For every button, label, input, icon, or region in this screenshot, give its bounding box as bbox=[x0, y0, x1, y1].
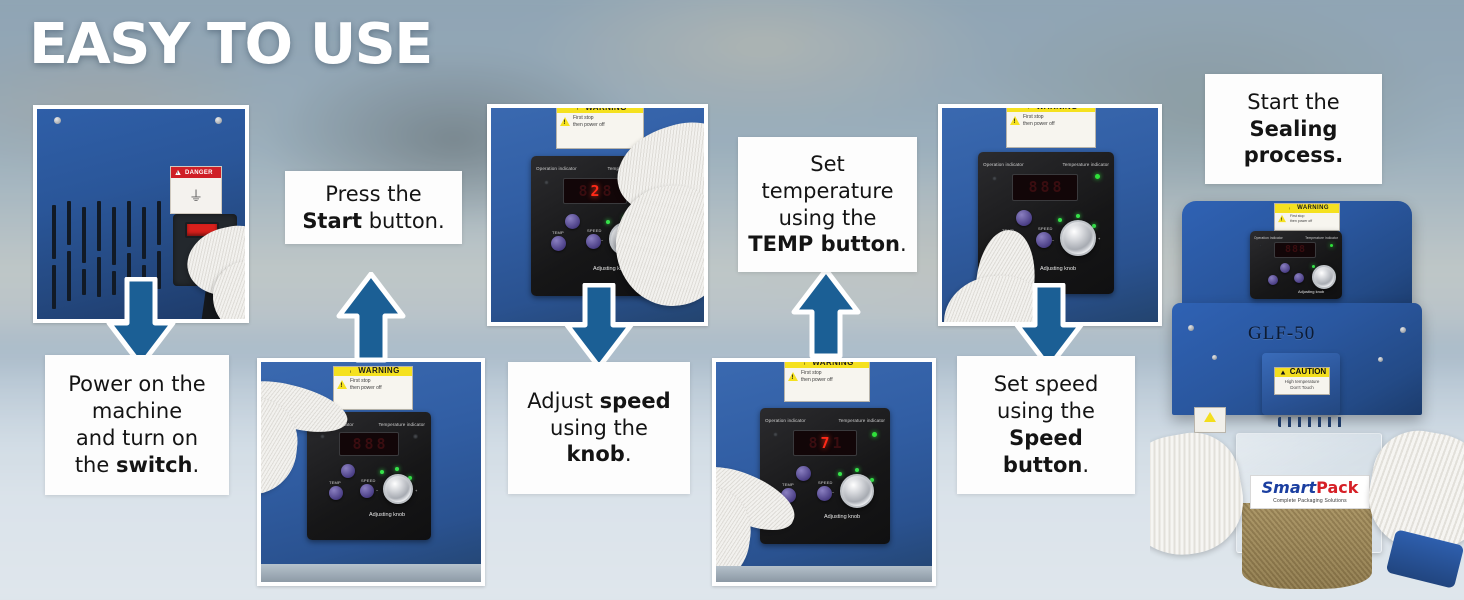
danger-label: DANGER ⏚ bbox=[170, 166, 222, 214]
warning-triangle-icon bbox=[1288, 206, 1293, 210]
temperature-indicator-label: Temperature indicator bbox=[1305, 236, 1338, 240]
screw-icon bbox=[1188, 325, 1194, 331]
adjusting-knob[interactable] bbox=[840, 474, 874, 508]
operation-indicator-label: Operation indicator bbox=[1254, 236, 1283, 240]
temperature-indicator-led bbox=[1330, 244, 1333, 247]
adjusting-knob[interactable] bbox=[383, 474, 413, 504]
step-4-caption-text: Settemperatureusing theTEMP button. bbox=[748, 151, 906, 259]
step-5-caption-text: Set speedusing theSpeedbutton. bbox=[994, 371, 1099, 479]
arrow-up-step-2 bbox=[335, 272, 407, 364]
step-4-photo: WARNING First stop then power off Operat… bbox=[712, 358, 936, 586]
operation-indicator-led bbox=[1259, 244, 1262, 247]
operation-indicator-label: Operation indicator bbox=[536, 166, 577, 171]
digit-display: 8 8 8 bbox=[1012, 174, 1078, 201]
warning-label: WARNING First stop then power off bbox=[1006, 108, 1096, 148]
temperature-indicator-label: Temperature indicator bbox=[378, 422, 425, 427]
digit-display: 8 7 1 bbox=[793, 430, 857, 456]
warning-triangle-icon bbox=[802, 362, 808, 366]
step-2-photo: WARNING First stop then power off Operat… bbox=[257, 358, 485, 586]
warning-triangle-icon bbox=[175, 170, 181, 175]
danger-label-body: ⏚ bbox=[171, 178, 221, 213]
warning-triangle-icon bbox=[788, 372, 798, 381]
step-1-caption-text: Power on themachineand turn onthe switch… bbox=[68, 371, 205, 479]
arrow-up-step-4 bbox=[790, 268, 862, 360]
screw-icon bbox=[215, 117, 222, 124]
knob-plus-label: + bbox=[1098, 236, 1101, 241]
knob-led bbox=[606, 220, 610, 224]
warning-label-body: First stop then power off bbox=[1007, 112, 1095, 129]
operation-indicator-label: Operation indicator bbox=[765, 418, 806, 423]
warning-triangle-icon bbox=[1010, 116, 1020, 125]
knob-led bbox=[1058, 218, 1062, 222]
screw-icon bbox=[1212, 355, 1217, 360]
speed-button[interactable] bbox=[360, 484, 374, 498]
bag-tagline: Complete Packaging Solutions bbox=[1273, 498, 1347, 504]
danger-label-heading: DANGER bbox=[171, 167, 221, 178]
speed-button[interactable] bbox=[1294, 273, 1304, 283]
warning-triangle-icon bbox=[337, 380, 347, 389]
warning-label-body: First stop then power off bbox=[1275, 213, 1339, 224]
table-surface bbox=[716, 566, 932, 582]
step-2-caption: Press theStart button. bbox=[285, 171, 462, 244]
speed-button-label: SPEED bbox=[818, 480, 833, 485]
operation-indicator-led bbox=[992, 176, 997, 181]
knob-minus-label: − bbox=[832, 490, 835, 495]
adjusting-knob-label: Adjusting knob bbox=[824, 514, 860, 520]
adjusting-knob-label: Adjusting knob bbox=[369, 512, 405, 518]
adjusting-knob-label: Adjusting knob bbox=[1298, 289, 1324, 294]
step-6-photo: WARNING First stop then power off Operat… bbox=[1150, 185, 1464, 600]
knob-led bbox=[380, 470, 384, 474]
screw-icon bbox=[1400, 327, 1406, 333]
step-3-caption: Adjust speedusing theknob. bbox=[508, 362, 690, 494]
warning-triangle-icon bbox=[348, 369, 354, 374]
knob-plus-label: + bbox=[415, 488, 418, 493]
bag-brand-text: SmartPack bbox=[1262, 480, 1359, 496]
warning-label: WARNING First stop then power off bbox=[556, 108, 644, 149]
warning-label: WARNING First stop then power off bbox=[1274, 203, 1340, 231]
temperature-indicator-led bbox=[872, 432, 877, 437]
table-surface bbox=[261, 564, 481, 582]
operation-indicator-label: Operation indicator bbox=[983, 162, 1024, 167]
warning-label: WARNING First stop then power off bbox=[333, 366, 413, 410]
temperature-indicator-led bbox=[413, 434, 418, 439]
screw-icon bbox=[1378, 357, 1383, 362]
start-button[interactable] bbox=[1280, 263, 1290, 273]
screw-icon bbox=[54, 117, 61, 124]
digit-display: 8 8 8 bbox=[339, 432, 399, 456]
step-4-caption: Settemperatureusing theTEMP button. bbox=[738, 137, 917, 272]
digit-display: 8 8 8 bbox=[1274, 242, 1316, 258]
operation-indicator-led bbox=[773, 432, 778, 437]
caution-label-heading: CAUTION bbox=[1275, 368, 1329, 377]
speed-button[interactable] bbox=[817, 486, 832, 501]
speed-button-label: SPEED bbox=[361, 478, 376, 483]
caution-label: CAUTION High temperature Don't Touch bbox=[1274, 367, 1330, 395]
warning-triangle-icon bbox=[1278, 215, 1286, 222]
speed-button[interactable] bbox=[1036, 232, 1052, 248]
bag-contents-grain bbox=[1242, 503, 1372, 589]
machine-model-label: GLF-50 bbox=[1248, 323, 1315, 345]
start-button[interactable] bbox=[1016, 210, 1032, 226]
warning-label-body: First stop then power off bbox=[334, 376, 412, 393]
temp-button-label: TEMP bbox=[329, 480, 341, 485]
step-6-caption: Start theSealingprocess. bbox=[1205, 74, 1382, 184]
warning-triangle-icon bbox=[575, 108, 581, 111]
warning-triangle-icon bbox=[1281, 370, 1286, 374]
temp-button-label: TEMP bbox=[782, 482, 794, 487]
knob-minus-label: − bbox=[1052, 238, 1055, 243]
warning-label: WARNING First stop then power off bbox=[784, 362, 870, 402]
start-button[interactable] bbox=[341, 464, 355, 478]
warning-label-heading: WARNING bbox=[334, 367, 412, 376]
warning-triangle-icon bbox=[560, 117, 570, 126]
temperature-indicator-label: Temperature indicator bbox=[838, 418, 885, 423]
page-title: EASY TO USE bbox=[29, 17, 432, 73]
speed-button[interactable] bbox=[586, 234, 601, 249]
step-2-caption-text: Press theStart button. bbox=[302, 181, 444, 235]
adjusting-knob-label: Adjusting knob bbox=[1040, 266, 1076, 272]
operation-indicator-led bbox=[544, 180, 549, 185]
step-3-caption-text: Adjust speedusing theknob. bbox=[527, 388, 670, 469]
caution-label-body: High temperature Don't Touch bbox=[1275, 377, 1329, 393]
temperature-indicator-led bbox=[1095, 174, 1100, 179]
knob-led bbox=[395, 467, 399, 471]
step-1-caption: Power on themachineand turn onthe switch… bbox=[45, 355, 229, 495]
warning-label-body: First stop then power off bbox=[557, 113, 643, 130]
temperature-indicator-label: Temperature indicator bbox=[1062, 162, 1109, 167]
start-button[interactable] bbox=[796, 466, 811, 481]
temp-button[interactable] bbox=[551, 236, 566, 251]
sealing-ridges bbox=[1278, 417, 1342, 427]
step-5-caption: Set speedusing theSpeedbutton. bbox=[957, 356, 1135, 494]
control-faceplate: Operation indicator Temperature indicato… bbox=[1250, 231, 1342, 299]
adjusting-knob[interactable] bbox=[1312, 265, 1336, 289]
operation-indicator-led bbox=[320, 434, 325, 439]
warning-label-body: First stop then power off bbox=[785, 368, 869, 385]
knob-led bbox=[855, 468, 859, 472]
step-6-caption-text: Start theSealingprocess. bbox=[1244, 89, 1343, 170]
temp-button[interactable] bbox=[1268, 275, 1278, 285]
temp-button[interactable] bbox=[329, 486, 343, 500]
arrow-down-step-3 bbox=[563, 283, 635, 371]
knob-minus-label: − bbox=[601, 238, 604, 243]
speed-button-label: SPEED bbox=[587, 228, 602, 233]
adjusting-knob[interactable] bbox=[1060, 220, 1096, 256]
temp-button-label: TEMP bbox=[552, 230, 564, 235]
bag-brand-label: SmartPack Complete Packaging Solutions bbox=[1250, 475, 1370, 509]
knob-led bbox=[838, 472, 842, 476]
hazard-label bbox=[1194, 407, 1226, 433]
knob-led bbox=[1076, 214, 1080, 218]
speed-button-label: SPEED bbox=[1038, 226, 1053, 231]
warning-triangle-icon bbox=[1026, 108, 1032, 110]
knob-minus-label: − bbox=[376, 488, 379, 493]
warning-label-heading: WARNING bbox=[1275, 204, 1339, 213]
start-button[interactable] bbox=[565, 214, 580, 229]
